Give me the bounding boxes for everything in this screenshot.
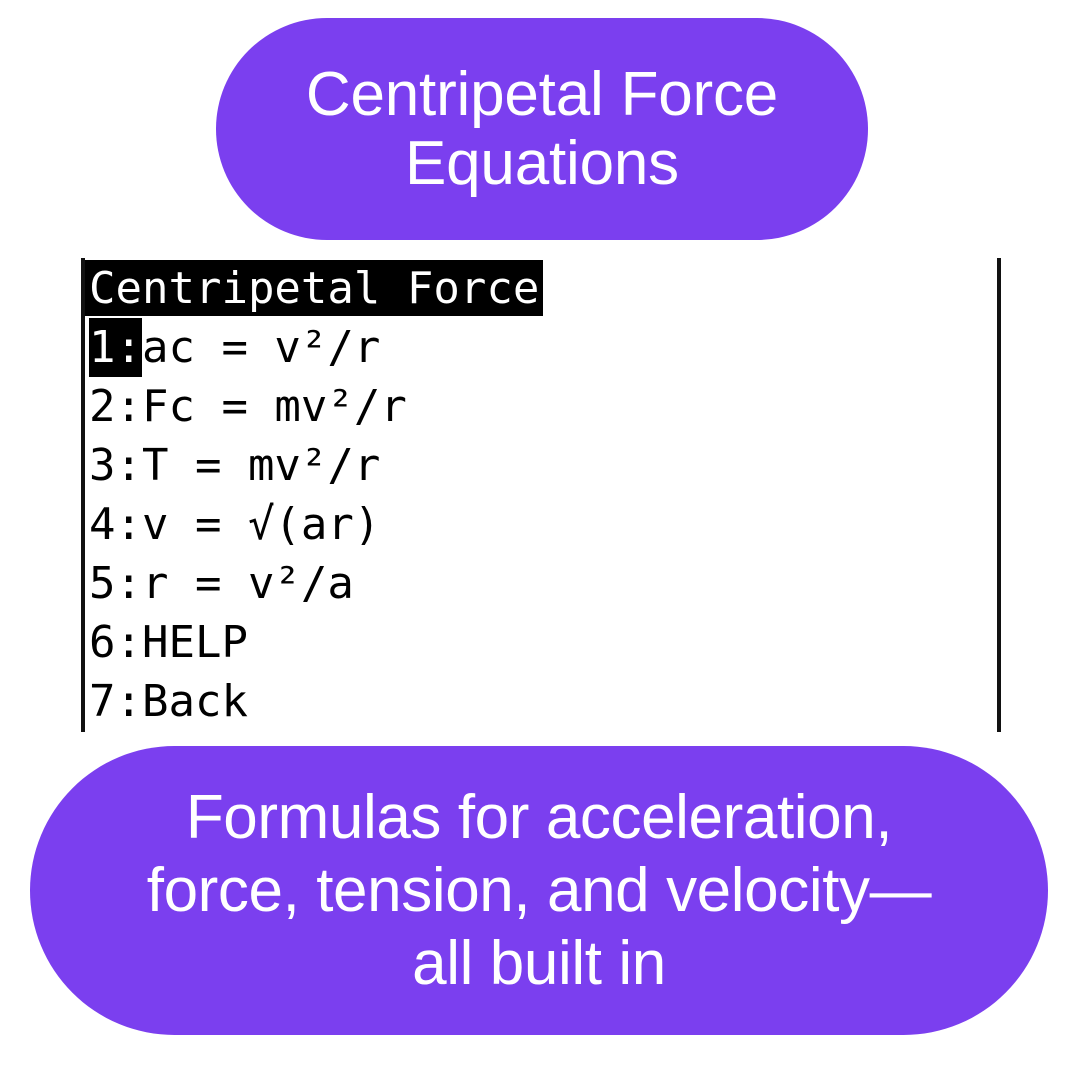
menu-item-key: 7: [89, 672, 142, 731]
menu-item-key: 2: [89, 377, 142, 436]
menu-item-2[interactable]: 2:Fc = mv²/r [85, 377, 997, 436]
menu-item-label: Back [142, 672, 248, 731]
bottom-banner: Formulas for acceleration, force, tensio… [30, 746, 1048, 1035]
calculator-title-bar: Centripetal Force [85, 260, 543, 316]
menu-item-label: v = √(ar) [142, 495, 380, 554]
menu-item-7[interactable]: 7:Back [85, 672, 997, 731]
menu-item-key: 3: [89, 436, 142, 495]
bottom-banner-caption: Formulas for acceleration, force, tensio… [147, 781, 931, 1000]
calculator-screen-content: Centripetal Force 1:ac = v²/r2:Fc = mv²/… [85, 258, 997, 732]
top-banner: Centripetal Force Equations [216, 18, 868, 240]
menu-item-key: 6: [89, 613, 142, 672]
menu-item-label: T = mv²/r [142, 436, 380, 495]
menu-item-1[interactable]: 1:ac = v²/r [85, 318, 997, 377]
calculator-menu: 1:ac = v²/r2:Fc = mv²/r3:T = mv²/r4:v = … [85, 318, 997, 731]
menu-item-key: 4: [89, 495, 142, 554]
menu-item-4[interactable]: 4:v = √(ar) [85, 495, 997, 554]
menu-item-label: HELP [142, 613, 248, 672]
menu-item-5[interactable]: 5:r = v²/a [85, 554, 997, 613]
menu-item-3[interactable]: 3:T = mv²/r [85, 436, 997, 495]
calculator-title-text: Centripetal Force [89, 259, 539, 318]
menu-item-label: ac = v²/r [142, 318, 380, 377]
menu-item-label: r = v²/a [142, 554, 354, 613]
calculator-screen: Centripetal Force 1:ac = v²/r2:Fc = mv²/… [81, 258, 1001, 732]
top-banner-title: Centripetal Force Equations [306, 60, 778, 199]
menu-item-key: 5: [89, 554, 142, 613]
menu-item-key: 1: [89, 318, 142, 377]
menu-item-6[interactable]: 6:HELP [85, 613, 997, 672]
menu-item-label: Fc = mv²/r [142, 377, 407, 436]
